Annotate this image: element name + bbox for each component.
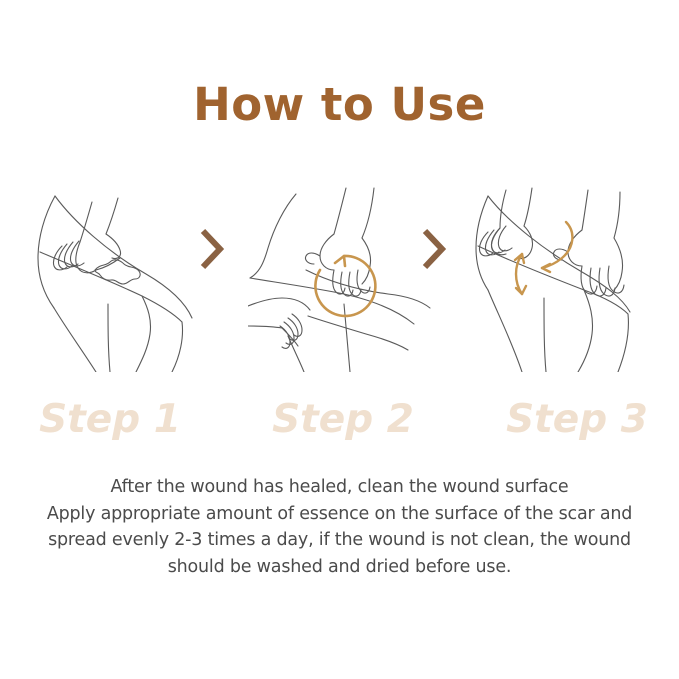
instruction-line-2: Apply appropriate amount of essence on t…: [0, 501, 679, 528]
chevron-right-icon-1: [196, 226, 226, 272]
step-3-label: Step 3: [472, 392, 679, 448]
instruction-line-4: should be washed and dried before use.: [0, 554, 679, 581]
step-1-label: Step 1: [5, 392, 215, 448]
page-title: How to Use: [0, 82, 679, 127]
chevron-right-icon-2: [418, 226, 448, 272]
instruction-line-1: After the wound has healed, clean the wo…: [0, 474, 679, 501]
how-to-use-panel: How to Use: [0, 0, 679, 679]
step-2-label: Step 2: [238, 392, 448, 448]
step-3-illustration: [470, 186, 660, 372]
step-1-illustration: [22, 186, 212, 372]
step-labels-row: Step 1 Step 2 Step 3: [0, 392, 679, 448]
instructions-text: After the wound has healed, clean the wo…: [0, 474, 679, 580]
instruction-line-3: spread evenly 2-3 times a day, if the wo…: [0, 527, 679, 554]
step-2-illustration: [248, 186, 438, 372]
steps-illustration-strip: [0, 186, 679, 372]
